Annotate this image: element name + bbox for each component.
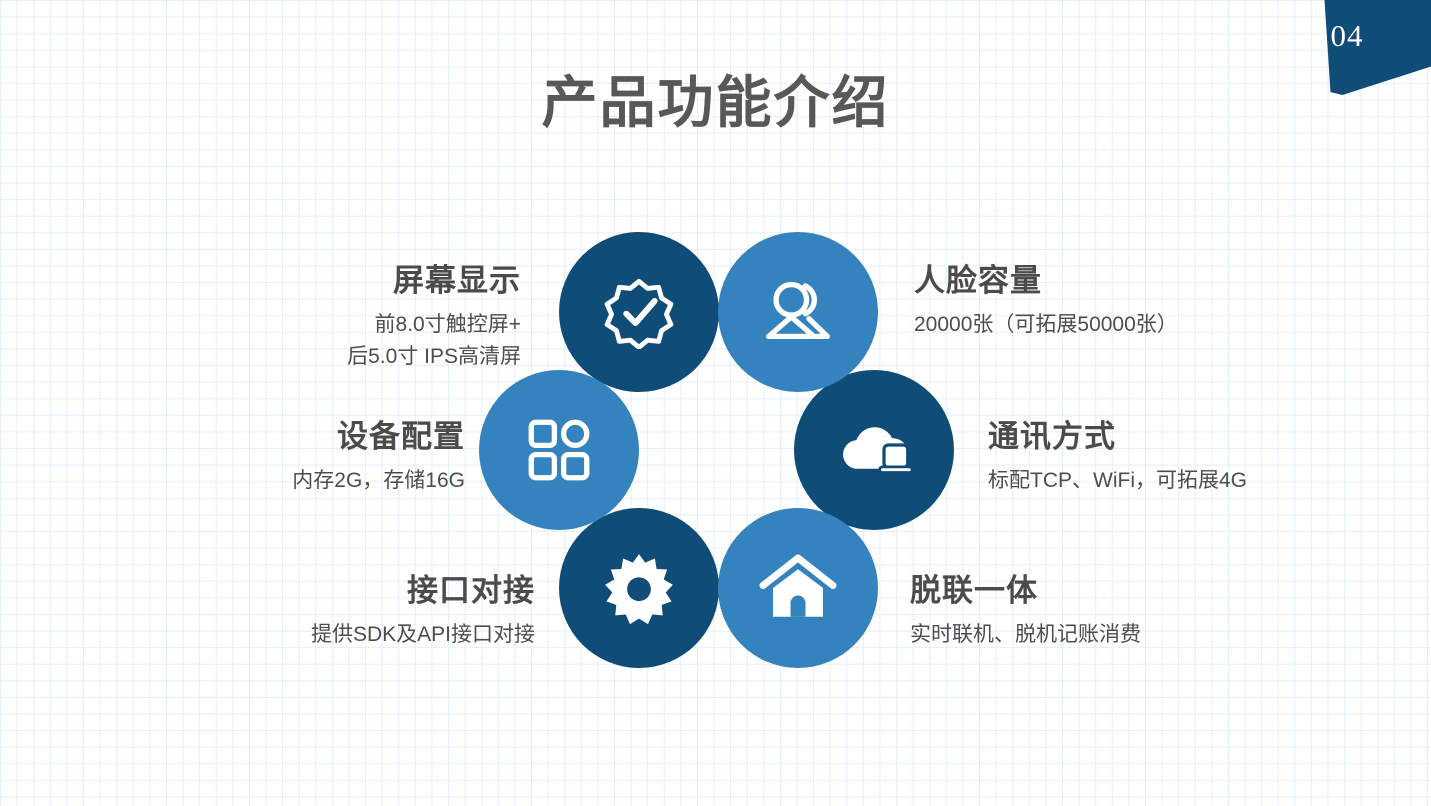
feature-heading-comm: 通讯方式	[988, 418, 1247, 457]
feature-desc-device-line1: 内存2G，存储16G	[292, 465, 465, 498]
badge-check-icon	[602, 275, 676, 349]
feature-circle-api[interactable]	[559, 508, 719, 668]
feature-circle-cluster	[479, 232, 954, 664]
page-title: 产品功能介绍	[0, 72, 1431, 134]
feature-heading-device: 设备配置	[292, 418, 465, 457]
apps-grid-icon	[522, 413, 596, 487]
gear-icon	[601, 550, 677, 626]
cloud-device-icon	[834, 410, 914, 490]
slide-canvas: 04 产品功能介绍 屏幕显示 前8.0寸触控屏+ 后5.0寸 IPS高清屏 设备…	[0, 0, 1431, 806]
feature-label-device: 设备配置 内存2G，存储16G	[292, 418, 465, 497]
feature-circle-offline[interactable]	[718, 508, 878, 668]
feature-circle-comm[interactable]	[794, 370, 954, 530]
feature-circle-screen[interactable]	[559, 232, 719, 392]
feature-label-comm: 通讯方式 标配TCP、WiFi，可拓展4G	[988, 418, 1247, 497]
feature-circle-device[interactable]	[479, 370, 639, 530]
feature-circle-face[interactable]	[718, 232, 878, 392]
page-number-text: 04	[1281, 18, 1431, 54]
feature-desc-comm-line1: 标配TCP、WiFi，可拓展4G	[988, 465, 1247, 498]
home-icon	[758, 548, 838, 628]
users-icon	[759, 273, 837, 351]
